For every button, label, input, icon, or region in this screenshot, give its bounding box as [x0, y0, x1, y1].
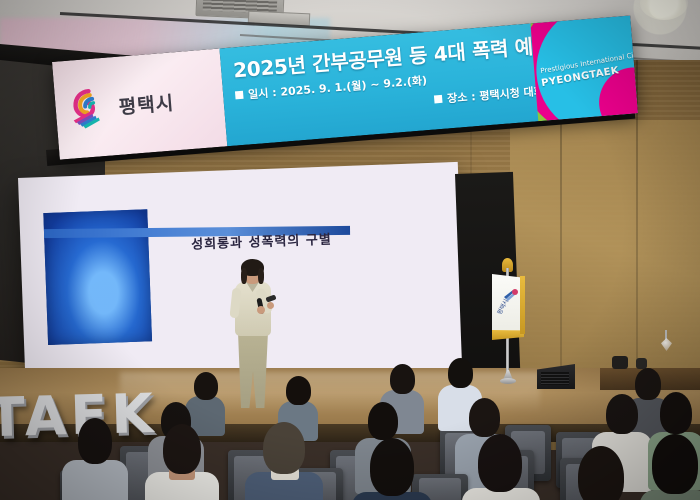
audience-member — [245, 422, 323, 500]
audience-head — [163, 424, 201, 474]
presenter-hand — [267, 302, 274, 309]
audience-body — [62, 460, 128, 500]
audience-head — [478, 434, 522, 492]
audience-head — [660, 392, 692, 434]
audience-head — [469, 398, 500, 437]
audience-head — [286, 376, 311, 405]
presenter-hair-side — [241, 268, 247, 284]
audience-head — [448, 358, 473, 388]
audience-member — [352, 438, 432, 500]
bullet-square-icon — [235, 91, 244, 100]
pyeongtaek-city-swirl-logo-icon — [68, 87, 111, 130]
banner-logo-panel: 평택시 — [52, 49, 227, 160]
photo-scene: 평택시 2025년 간부공무원 등 4대 폭력 예방교육 일시 : 2025. … — [0, 0, 700, 500]
audience-head — [368, 402, 398, 440]
banner-city-brand-graphic: Prestigious International City PYEONGTAE… — [530, 15, 638, 121]
audience-member — [640, 434, 700, 500]
audience-head — [390, 364, 415, 394]
audience-head — [606, 394, 638, 434]
ceiling-downlight — [640, 0, 688, 20]
audience — [0, 350, 700, 500]
flag-gold-fringe — [520, 276, 525, 334]
audience-member — [462, 434, 540, 500]
bullet-square-icon — [434, 95, 443, 104]
audience-member — [560, 446, 642, 500]
audience-member — [62, 418, 128, 500]
audience-head — [370, 438, 414, 496]
presenter-hair-side — [258, 268, 264, 284]
audience-head — [652, 434, 698, 494]
banner-logo-text: 평택시 — [118, 88, 175, 119]
presenter-hand — [257, 306, 265, 314]
audience-head — [78, 418, 112, 464]
audience-member — [145, 424, 219, 500]
audience-head — [194, 372, 218, 400]
audience-head — [263, 422, 305, 474]
audience-head — [578, 446, 624, 500]
